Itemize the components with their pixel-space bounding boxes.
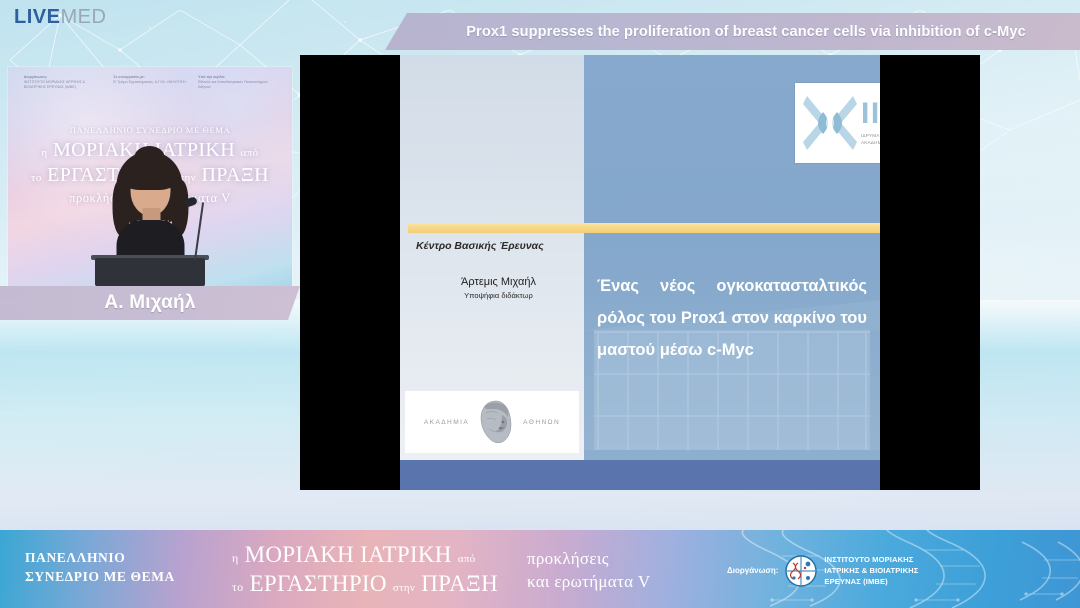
backdrop-org-mid-name: Β' Τμήμα Εργαστηριακής, Α.Π.Θ. «ΦΙΛΟΤΗΣ»: [113, 80, 186, 84]
banner-congress-label: ΠΑΝΕΛΛΗΝΙΟ ΣΥΝΕΔΡΙΟ ΜΕ ΘΕΜΑ: [25, 548, 175, 586]
webinar-player-page: LIVEMED Prox1 suppresses the proliferati…: [0, 0, 1080, 608]
banner-organizer-line-1: ΙΝΣΤΙΤΟΥΤΟ ΜΟΡΙΑΚΗΣ: [824, 554, 918, 565]
banner-subtitle-line-1: προκλήσεις: [527, 548, 650, 571]
iibeaa-subtitle-line-2: ΑΚΑΔΗΜΙΑΣ ΑΘΗΝΩΝ: [861, 140, 880, 147]
slide-gold-divider: [408, 223, 880, 233]
banner-subtitle-line-2: και ερωτήματα V: [527, 571, 650, 594]
backdrop-org-mid: Σε συνεργασία με: Β' Τμήμα Εργαστηριακής…: [113, 75, 186, 91]
banner-theme-line-2-pre: το: [232, 580, 243, 594]
iibeaa-subtitle-line-1: ΙΔΡΥΜΑ ΙΑΤΡΟΒΙΟΛΟΓΙΚΩΝ ΕΡΕΥΝΩΝ: [861, 133, 880, 140]
athena-head-icon: [478, 399, 514, 445]
banner-organizer-line-3: ΕΡΕΥΝΑΣ (ΙΜΒΕ): [824, 576, 918, 587]
backdrop-line-3-pre: το: [31, 172, 42, 184]
banner-theme-line-1-main: ΜΟΡΙΑΚΗ ΙΑΤΡΙΚΗ: [245, 542, 452, 567]
livemed-logo-med: MED: [60, 6, 106, 28]
academy-label-right: ΑΘΗΝΩΝ: [523, 419, 560, 426]
banner-organizer-line-2: ΙΑΤΡΙΚΗΣ & ΒΙΟΙΑΤΡΙΚΗΣ: [824, 565, 918, 576]
backdrop-org-left-name: ΙΝΣΤΙΤΟΥΤΟ ΜΟΡΙΑΚΗΣ ΙΑΤΡΙΚΗΣ & ΒΙΟΙΑΤΡΙΚ…: [24, 80, 85, 89]
backdrop-line-1: ΠΑΝΕΛΛΗΝΙΟ ΣΥΝΕΔΡΙΟ ΜΕ ΘΕΜΑ: [8, 125, 292, 135]
backdrop-line-2-pre: η: [41, 147, 47, 159]
presentation-title: Prox1 suppresses the proliferation of br…: [444, 24, 1026, 40]
banner-organizer: Διοργάνωση:: [727, 554, 918, 587]
slide-footer-strip: [400, 460, 880, 490]
slide-title: Ένας νέος ογκοκατασταλτικός ρόλος του Pr…: [597, 270, 867, 367]
iibeaa-wordmark: IIBEAA: [861, 99, 880, 129]
banner-organizer-lead: Διοργάνωση:: [727, 566, 778, 575]
speaker-name: Α. Μιχαήλ: [104, 292, 195, 314]
slide-author-role: Υποψήφια διδάκτωρ: [416, 291, 581, 300]
iibeaa-logo: IIBEAA ΙΔΡΥΜΑ ΙΑΤΡΟΒΙΟΛΟΓΙΚΩΝ ΕΡΕΥΝΩΝ ΑΚ…: [795, 83, 880, 163]
banner-congress-line-2: ΣΥΝΕΔΡΙΟ ΜΕ ΘΕΜΑ: [25, 567, 175, 586]
backdrop-org-right: Υπό την αιγίδα: Εθνικόν και Καποδιστριακ…: [198, 75, 276, 91]
banner-theme-line-1-pre: η: [232, 551, 239, 565]
banner-theme-line-2: το ΕΡΓΑΣΤΗΡΙΟ στην ΠΡΑΞΗ: [232, 571, 498, 596]
academy-of-athens-logo: ΑΚΑΔΗΜΙΑ: [405, 391, 579, 453]
banner-theme-line-1-post: από: [458, 553, 476, 565]
banner-theme-line-2-main: ΕΡΓΑΣΤΗΡΙΟ: [250, 571, 387, 596]
speaker-video[interactable]: Διοργάνωση: ΙΝΣΤΙΤΟΥΤΟ ΜΟΡΙΑΚΗΣ ΙΑΤΡΙΚΗΣ…: [8, 67, 292, 286]
backdrop-org-left: Διοργάνωση: ΙΝΣΤΙΤΟΥΤΟ ΜΟΡΙΑΚΗΣ ΙΑΤΡΙΚΗΣ…: [24, 75, 102, 91]
iibeaa-subtitle: ΙΔΡΥΜΑ ΙΑΤΡΟΒΙΟΛΟΓΙΚΩΝ ΕΡΕΥΝΩΝ ΑΚΑΔΗΜΙΑΣ…: [861, 133, 880, 147]
banner-subtitle: προκλήσεις και ερωτήματα V: [527, 548, 650, 594]
imbe-seal-icon: [785, 555, 817, 587]
banner-theme-line-1: η ΜΟΡΙΑΚΗ ΙΑΤΡΙΚΗ από: [232, 542, 498, 567]
livemed-logo[interactable]: LIVEMED: [14, 7, 106, 27]
iibeaa-mark-icon: [803, 92, 857, 154]
speaker-name-plate: Α. Μιχαήλ: [0, 286, 300, 320]
conference-banner: ΠΑΝΕΛΛΗΝΙΟ ΣΥΝΕΔΡΙΟ ΜΕ ΘΕΜΑ η ΜΟΡΙΑΚΗ ΙΑ…: [0, 530, 1080, 608]
backdrop-line-2-post: από: [241, 147, 259, 159]
slide-author-name: Άρτεμις Μιχαήλ: [416, 276, 581, 288]
academy-label-left: ΑΚΑΔΗΜΙΑ: [424, 419, 469, 426]
slide-player[interactable]: IIBEAA ΙΔΡΥΜΑ ΙΑΤΡΟΒΙΟΛΟΓΙΚΩΝ ΕΡΕΥΝΩΝ ΑΚ…: [300, 55, 980, 490]
banner-theme-line-2-end: ΠΡΑΞΗ: [421, 571, 498, 596]
backdrop-org-right-name: Εθνικόν και Καποδιστριακόν Πανεπιστήμιον…: [198, 80, 268, 89]
banner-theme: η ΜΟΡΙΑΚΗ ΙΑΤΡΙΚΗ από το ΕΡΓΑΣΤΗΡΙΟ στην…: [232, 542, 498, 597]
livemed-logo-live: LIVE: [14, 6, 60, 28]
presentation-title-bar: Prox1 suppresses the proliferation of br…: [385, 13, 1080, 50]
banner-congress-line-1: ΠΑΝΕΛΛΗΝΙΟ: [25, 548, 175, 567]
banner-theme-line-2-mid: στην: [393, 582, 415, 594]
podium: [95, 258, 205, 286]
backdrop-org-logos: Διοργάνωση: ΙΝΣΤΙΤΟΥΤΟ ΜΟΡΙΑΚΗΣ ΙΑΤΡΙΚΗΣ…: [8, 75, 292, 91]
slide-content: IIBEAA ΙΔΡΥΜΑ ΙΑΤΡΟΒΙΟΛΟΓΙΚΩΝ ΕΡΕΥΝΩΝ ΑΚ…: [400, 55, 880, 490]
research-center-label: Κέντρο Βασικής Έρευνας: [416, 240, 581, 252]
banner-organizer-name: ΙΝΣΤΙΤΟΥΤΟ ΜΟΡΙΑΚΗΣ ΙΑΤΡΙΚΗΣ & ΒΙΟΙΑΤΡΙΚ…: [824, 554, 918, 587]
